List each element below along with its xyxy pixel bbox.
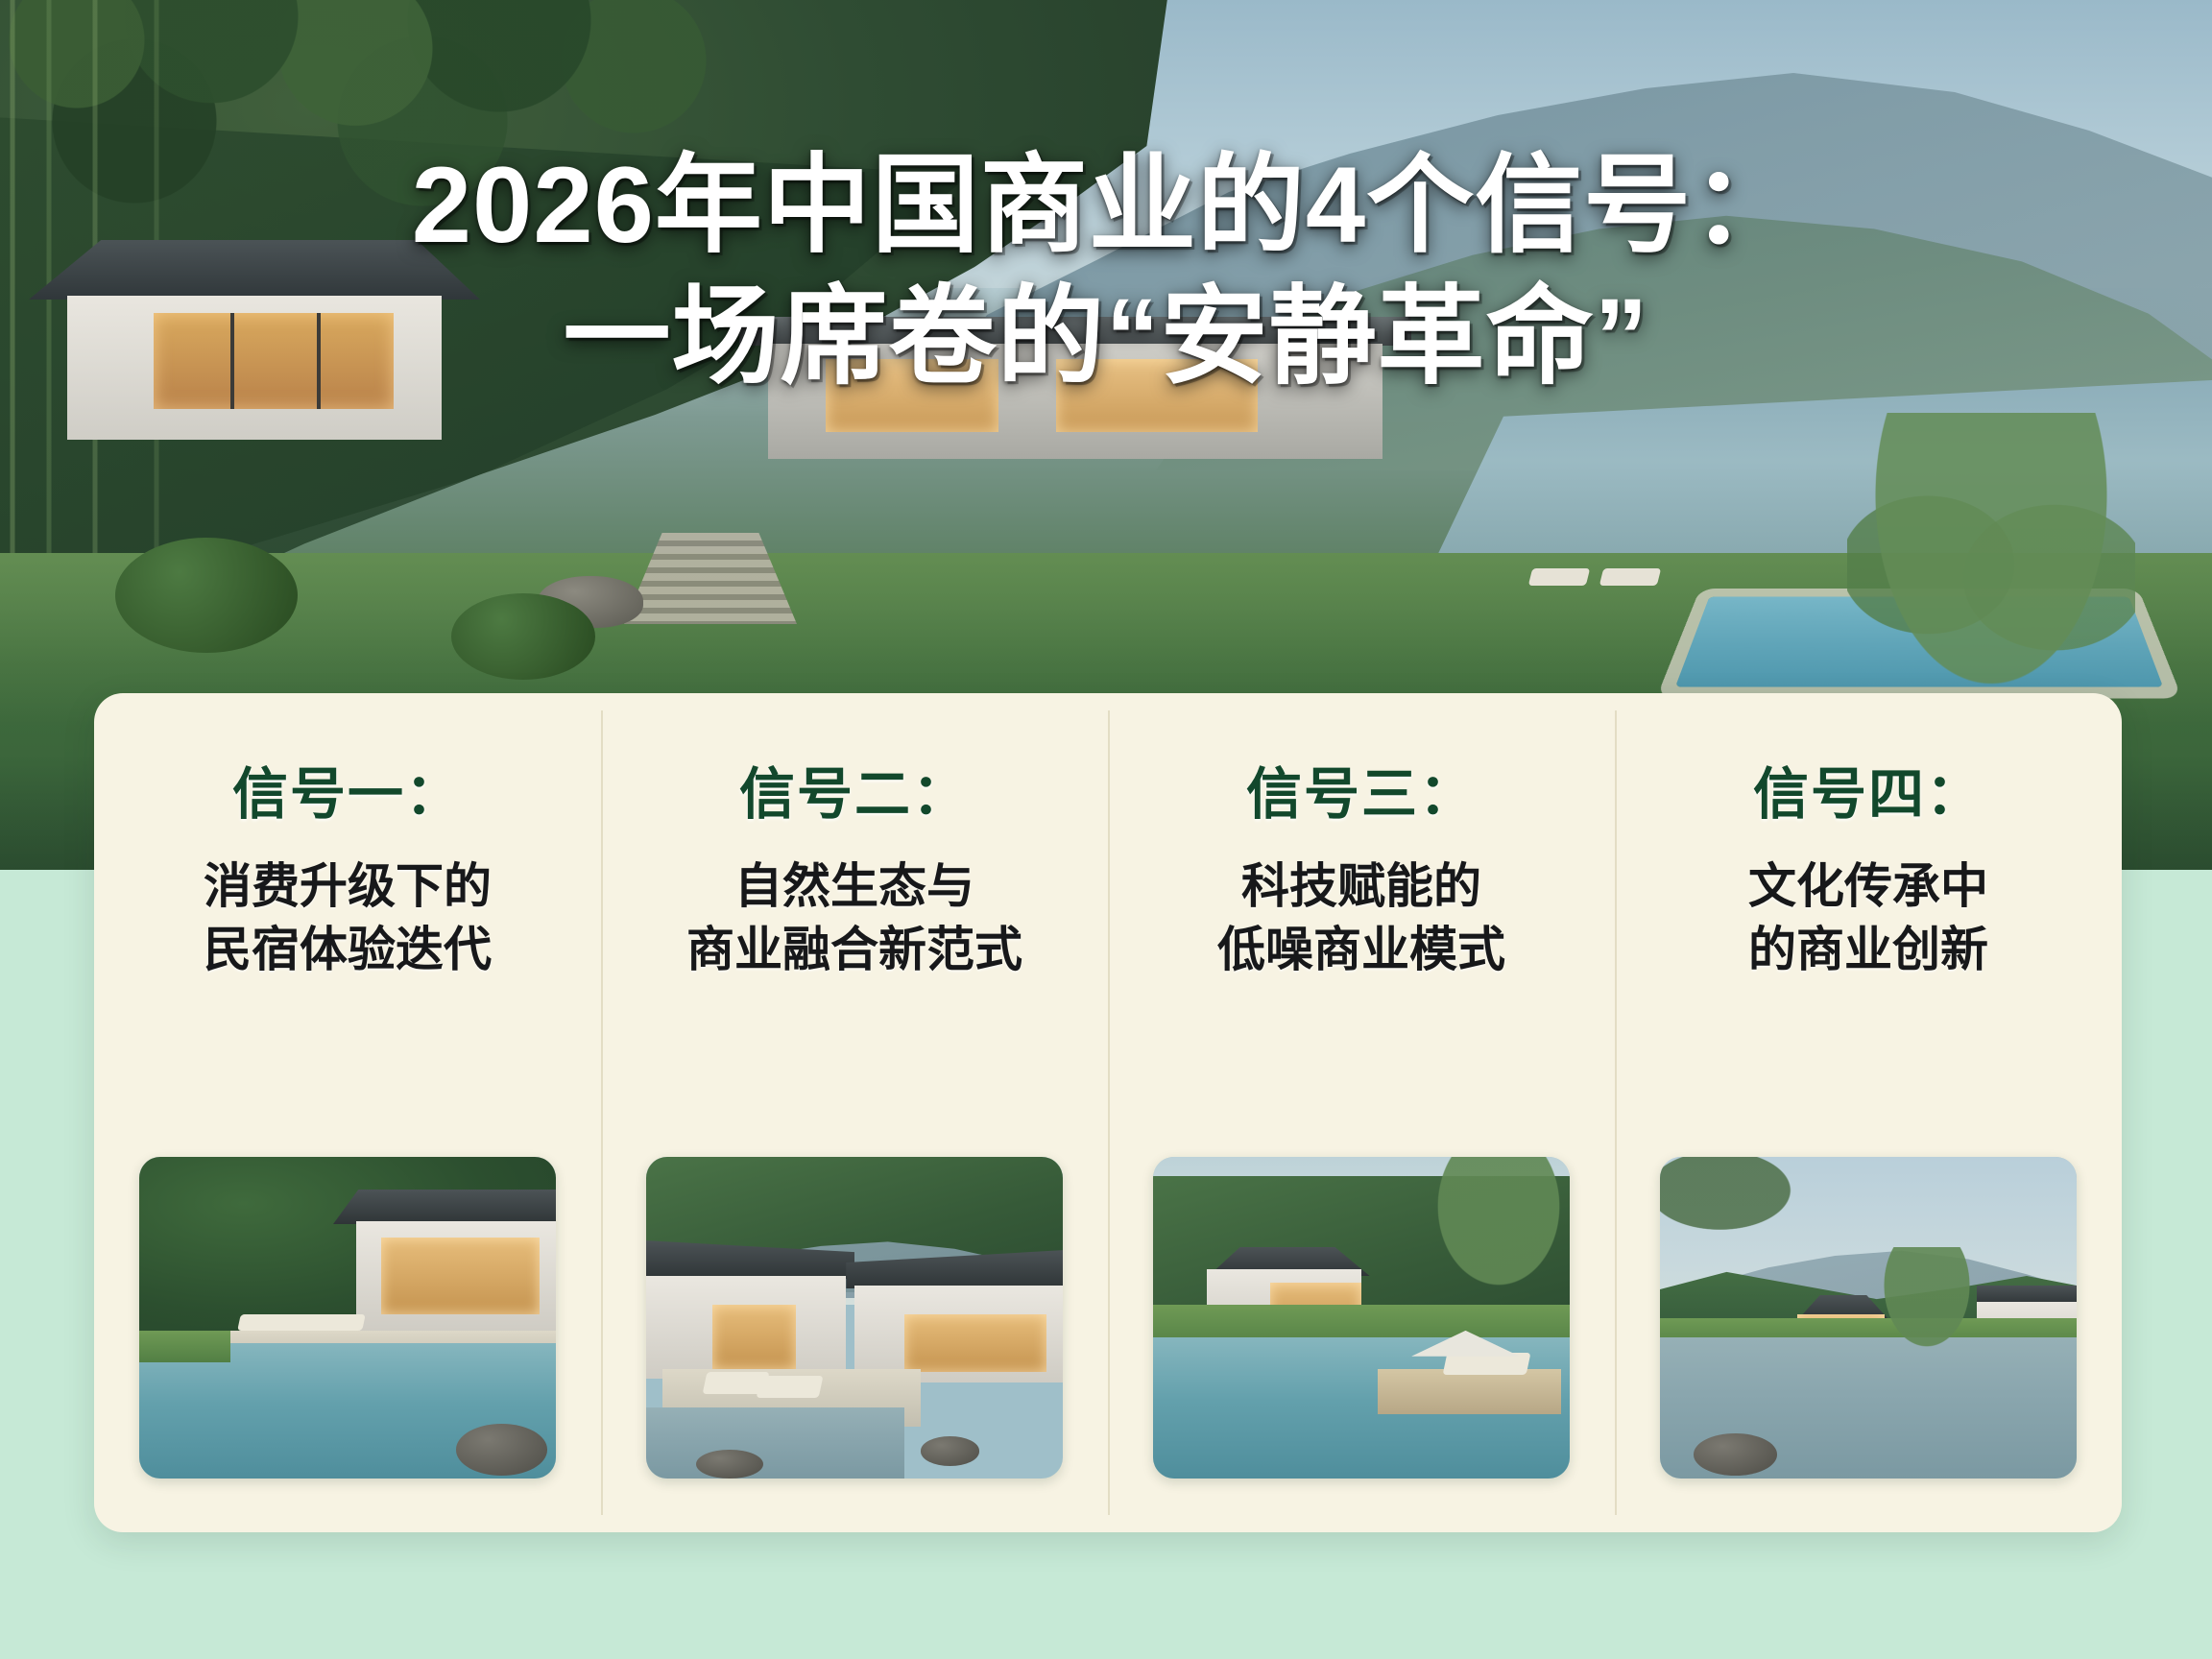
hero-deck-chairs <box>1530 568 1674 601</box>
thumb2-pond <box>646 1407 904 1479</box>
signal-card-4[interactable]: 信号四： 文化传承中 的商业创新 <box>1615 693 2122 1532</box>
signal-4-label: 信号四： <box>1753 749 1984 829</box>
signal-4-description: 文化传承中 的商业创新 <box>1748 854 1988 981</box>
hero-shrub <box>451 593 595 680</box>
signal-2-thumbnail[interactable] <box>646 1157 1063 1479</box>
thumb1-rock <box>456 1424 547 1476</box>
signals-panel: 信号一： 消费升级下的 民宿体验迭代 信号二： 自然生态与 <box>94 693 2122 1532</box>
signal-4-thumbnail[interactable] <box>1660 1157 2077 1479</box>
thumb1-roof <box>323 1190 556 1225</box>
signal-1-desc-line-2: 民宿体验迭代 <box>204 918 492 981</box>
hero-tree-right <box>1847 413 2135 730</box>
signal-3-thumbnail[interactable] <box>1153 1157 1570 1479</box>
signal-1-thumbnail[interactable] <box>139 1157 556 1479</box>
thumb2-rock <box>921 1436 979 1465</box>
thumb2-chair <box>757 1376 824 1398</box>
thumb1-window <box>381 1238 540 1314</box>
thumb4-branch <box>1660 1157 1810 1240</box>
signal-2-label: 信号二： <box>739 749 970 829</box>
thumb3-chair <box>1442 1353 1530 1375</box>
signal-1-desc-line-1: 消费升级下的 <box>204 854 492 918</box>
thumb4-tree <box>1877 1247 1977 1357</box>
signal-1-label: 信号一： <box>232 749 463 829</box>
signal-1-description: 消费升级下的 民宿体验迭代 <box>204 854 492 981</box>
signal-3-desc-line-1: 科技赋能的 <box>1217 854 1505 918</box>
signal-3-desc-line-2: 低噪商业模式 <box>1217 918 1505 981</box>
signal-4-desc-line-1: 文化传承中 <box>1748 854 1988 918</box>
thumb1-chair <box>296 1314 366 1331</box>
signal-card-1[interactable]: 信号一： 消费升级下的 民宿体验迭代 <box>94 693 601 1532</box>
thumb1-lawn <box>139 1331 230 1363</box>
thumb2-window-right <box>904 1314 1046 1372</box>
signal-2-desc-line-1: 自然生态与 <box>686 854 1022 918</box>
signal-card-3[interactable]: 信号三： 科技赋能的 低噪商业模式 <box>1108 693 1615 1532</box>
title-line-2: 一场席卷的“安静革命” <box>115 272 2097 403</box>
signal-2-desc-line-2: 商业融合新范式 <box>686 918 1022 981</box>
signal-4-desc-line-2: 的商业创新 <box>1748 918 1988 981</box>
signal-3-description: 科技赋能的 低噪商业模式 <box>1217 854 1505 981</box>
thumb3-tree <box>1428 1157 1570 1298</box>
thumb4-rock <box>1694 1433 1777 1476</box>
thumb2-rock <box>696 1450 762 1479</box>
signal-3-label: 信号三： <box>1246 749 1477 829</box>
thumb3-deck <box>1378 1369 1561 1414</box>
poster-title: 2026年中国商业的4个信号： 一场席卷的“安静革命” <box>0 140 2212 402</box>
poster-root: 2026年中国商业的4个信号： 一场席卷的“安静革命” 信号一： 消费升级下的 … <box>0 0 2212 1659</box>
hero-shrub <box>115 538 298 653</box>
title-line-1: 2026年中国商业的4个信号： <box>115 140 2097 272</box>
signal-2-description: 自然生态与 商业融合新范式 <box>686 854 1022 981</box>
hero-stone-steps <box>624 533 797 624</box>
thumb2-window-left <box>712 1305 796 1369</box>
signal-card-2[interactable]: 信号二： 自然生态与 商业融合新范式 <box>601 693 1108 1532</box>
